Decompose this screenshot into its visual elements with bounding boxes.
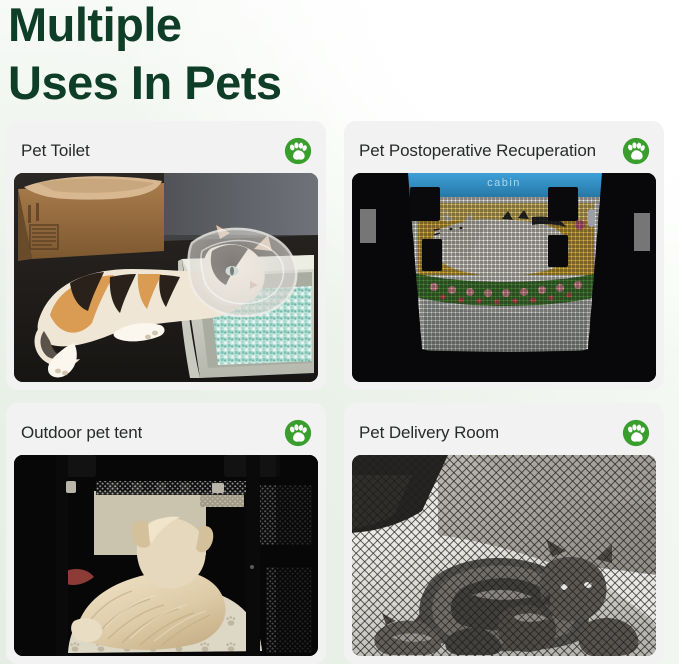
paw-icon — [622, 137, 650, 165]
card-photo-pet-toilet — [14, 173, 318, 382]
card-header: Outdoor pet tent — [14, 411, 318, 455]
card-header: Pet Toilet — [14, 129, 318, 173]
svg-text:cabin: cabin — [487, 177, 521, 189]
card-photo-pet-delivery-room — [352, 455, 656, 656]
card-title: Pet Delivery Room — [359, 423, 499, 443]
card-header: Pet Postoperative Recuperation — [352, 129, 656, 173]
card-header: Pet Delivery Room — [352, 411, 656, 455]
page-title: Multiple Uses In Pets — [8, 0, 568, 112]
use-case-card-outdoor-pet-tent[interactable]: Outdoor pet tent — [6, 403, 326, 664]
use-case-card-pet-delivery-room[interactable]: Pet Delivery Room — [344, 403, 664, 664]
card-photo-postoperative-recuperation: cabin — [352, 173, 656, 382]
use-case-grid: Pet Toilet — [6, 121, 673, 661]
card-title: Pet Toilet — [21, 141, 90, 161]
use-case-card-pet-toilet[interactable]: Pet Toilet — [6, 121, 326, 390]
infographic-page: Multiple Uses In Pets Pet Toilet — [0, 0, 679, 664]
card-title: Pet Postoperative Recuperation — [359, 141, 596, 161]
paw-icon — [284, 137, 312, 165]
card-photo-outdoor-pet-tent — [14, 455, 318, 656]
card-title: Outdoor pet tent — [21, 423, 142, 443]
paw-icon — [622, 419, 650, 447]
use-case-card-postoperative-recuperation[interactable]: Pet Postoperative Recuperation — [344, 121, 664, 390]
paw-icon — [284, 419, 312, 447]
